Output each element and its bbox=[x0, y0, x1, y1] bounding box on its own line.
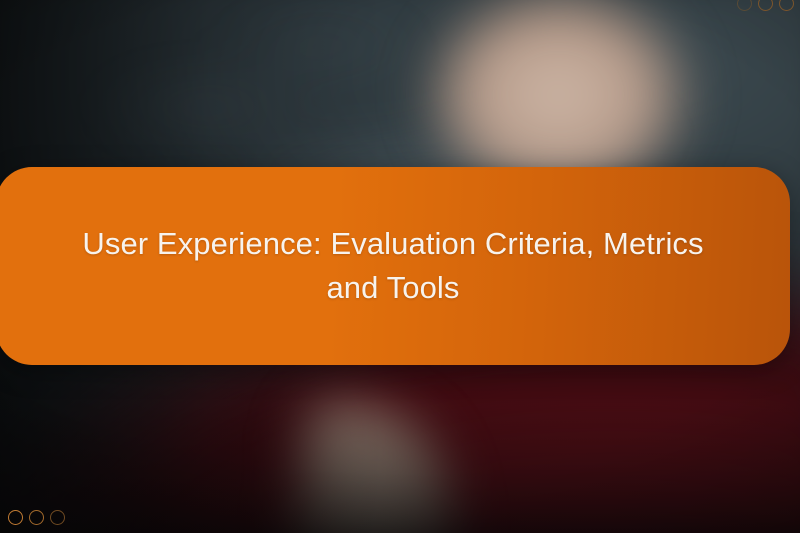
article-header-card: User Experience: Evaluation Criteria, Me… bbox=[0, 0, 800, 533]
circle-outline-icon bbox=[758, 0, 773, 11]
title-banner: User Experience: Evaluation Criteria, Me… bbox=[0, 167, 790, 365]
decoration-dots-top-right bbox=[737, 0, 794, 11]
circle-outline-icon bbox=[737, 0, 752, 11]
decoration-dots-bottom-left bbox=[8, 510, 65, 525]
circle-outline-icon bbox=[8, 510, 23, 525]
circle-outline-icon bbox=[779, 0, 794, 11]
circle-outline-icon bbox=[50, 510, 65, 525]
circle-outline-icon bbox=[29, 510, 44, 525]
page-title: User Experience: Evaluation Criteria, Me… bbox=[0, 222, 790, 310]
